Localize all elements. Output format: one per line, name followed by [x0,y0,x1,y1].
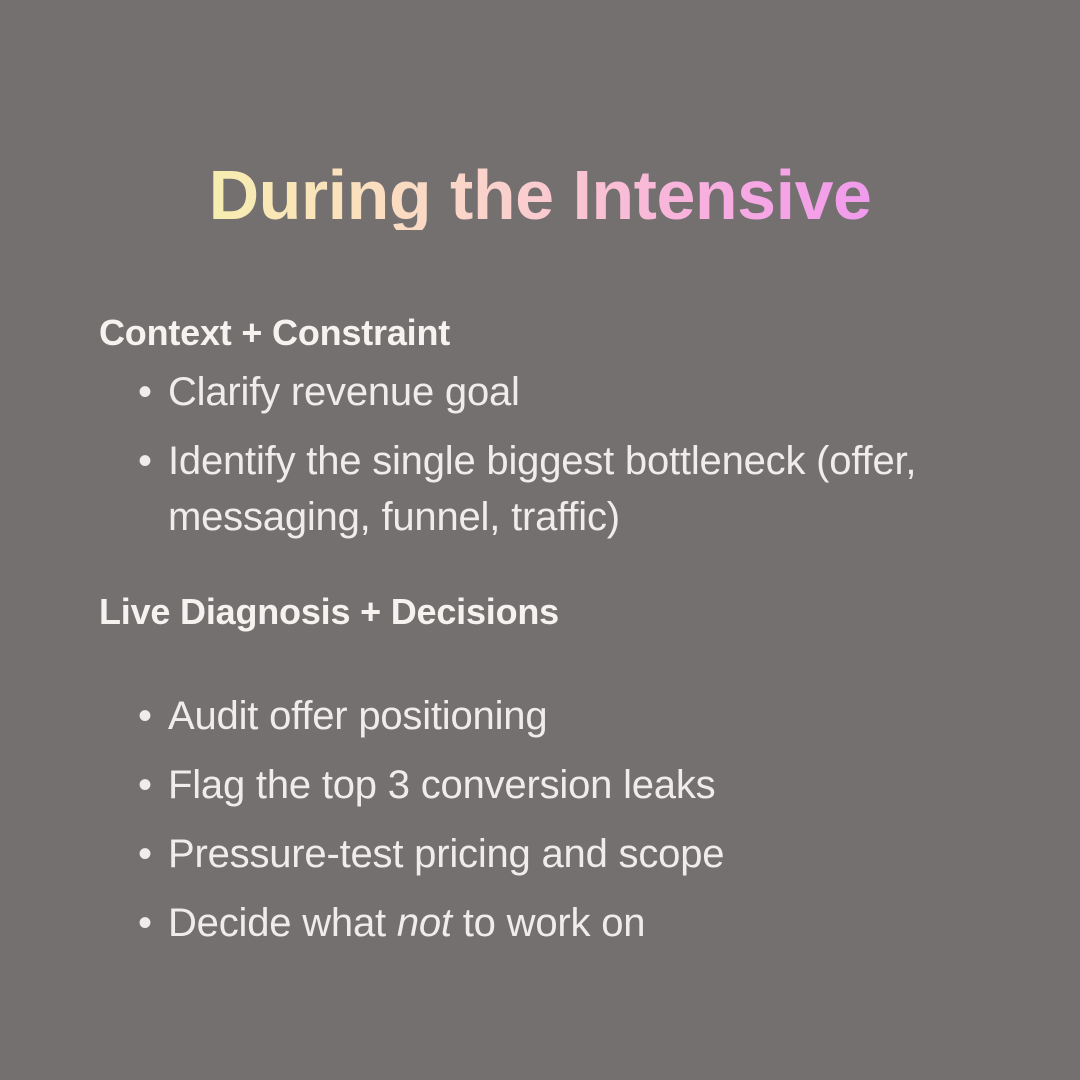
list-item-label: Clarify revenue goal [168,370,520,414]
slide-body: Context + Constraint • Clarify revenue g… [99,312,999,951]
list-item-label: Identify the single biggest bottleneck (… [168,439,916,539]
title-container: During the Intensive [0,160,1080,230]
bullet-dot-icon: • [138,757,152,813]
section-live-diagnosis-decisions: Live Diagnosis + Decisions • Audit offer… [99,591,999,950]
section-spacer [99,545,999,591]
section-heading: Live Diagnosis + Decisions [99,591,999,633]
list-item-label-pre: Decide what [168,901,397,945]
list-item-label: Audit offer positioning [168,694,547,738]
list-item: • Audit offer positioning [99,688,979,744]
section-heading: Context + Constraint [99,312,999,354]
bullet-dot-icon: • [138,364,152,420]
bullet-dot-icon: • [138,433,152,489]
slide-canvas: During the Intensive Context + Constrain… [0,0,1080,1080]
bullet-dot-icon: • [138,895,152,951]
list-item: • Identify the single biggest bottleneck… [99,433,979,545]
bullet-dot-icon: • [138,826,152,882]
list-item-label-post: to work on [452,901,645,945]
bullet-dot-icon: • [138,688,152,744]
list-item-label: Flag the top 3 conversion leaks [168,763,715,807]
page-title: During the Intensive [209,160,872,230]
list-item-label-emphasis: not [397,901,452,945]
section-context-constraint: Context + Constraint • Clarify revenue g… [99,312,999,545]
bullet-list: • Audit offer positioning • Flag the top… [99,688,999,951]
list-item: • Pressure-test pricing and scope [99,826,979,882]
list-item: • Flag the top 3 conversion leaks [99,757,979,813]
list-item: • Clarify revenue goal [99,364,979,420]
list-item-label: Pressure-test pricing and scope [168,832,724,876]
bullet-list: • Clarify revenue goal • Identify the si… [99,364,999,545]
list-item: • Decide what not to work on [99,895,979,951]
